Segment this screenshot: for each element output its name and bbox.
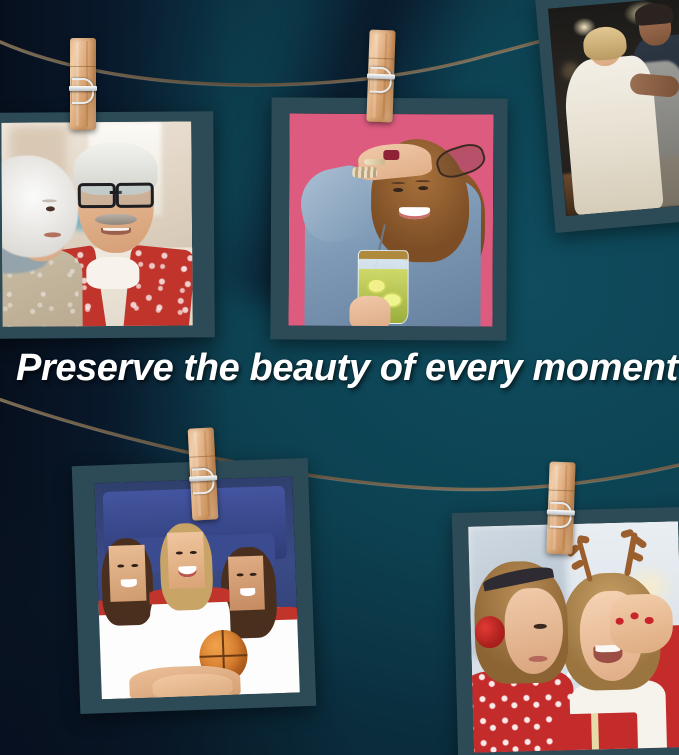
photo-seniors-image: [1, 121, 192, 326]
player3-smile: [240, 588, 256, 596]
fingernail: [615, 618, 624, 625]
wrist-band-beaded: [352, 167, 377, 178]
photo-wedding[interactable]: [535, 0, 679, 233]
photo-christmas-image: [468, 521, 679, 752]
wrist-band-red: [383, 150, 399, 160]
girl-hand: [350, 296, 391, 326]
girl-smile: [399, 207, 430, 219]
wrist-band-gold: [365, 158, 385, 165]
gift-box: [553, 712, 638, 752]
mother-eye: [534, 624, 547, 629]
groom-arm: [629, 73, 679, 98]
clothespin-4[interactable]: [546, 462, 575, 555]
photo-wedding-image: [548, 0, 679, 216]
player3-eye-left: [236, 573, 243, 576]
clothespin-3[interactable]: [188, 427, 219, 520]
player1-smile: [121, 579, 137, 587]
woman-brow: [42, 199, 57, 202]
player3-face: [228, 555, 265, 610]
page-headline: Preserve the beauty of every moment: [16, 349, 679, 387]
player2-face: [167, 531, 205, 588]
girl-eye-right: [418, 186, 428, 190]
photo-pink-girl-image: [288, 113, 493, 326]
photo-pink-girl[interactable]: [270, 97, 507, 340]
woman-hair: [1, 155, 78, 258]
banner-canvas: Preserve the beauty of every moment: [0, 0, 679, 755]
stacked-hands-top: [153, 673, 233, 699]
woman-eye: [46, 206, 56, 211]
clothespin-1[interactable]: [70, 38, 96, 130]
fingernail: [645, 617, 654, 624]
clothespin-2[interactable]: [366, 30, 395, 123]
man-glasses: [78, 183, 154, 202]
photo-seniors[interactable]: [0, 111, 215, 339]
mother-earmuff: [475, 616, 505, 648]
man-neckline: [86, 256, 139, 289]
player1-face: [108, 544, 146, 601]
